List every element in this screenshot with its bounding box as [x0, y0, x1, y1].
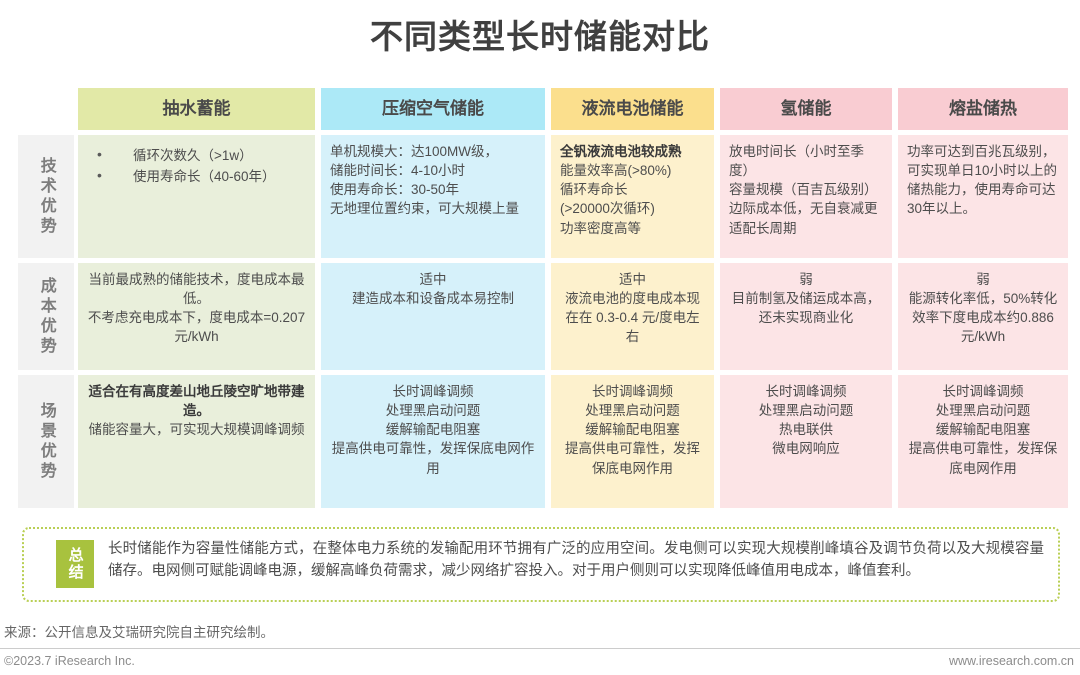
row-scenario-cells: 适合在有高度差山地丘陵空旷地带建造。 储能容量大，可实现大规模调峰调频 长时调峰… — [78, 375, 1068, 508]
cell-cost-flow-battery: 适中 液流电池的度电成本现在在 0.3-0.4 元/度电左右 — [551, 263, 714, 370]
row-label-cost: 成本优势 — [18, 263, 74, 370]
summary-badge-text: 总结 — [66, 547, 83, 581]
column-header-hydrogen[interactable]: 氢储能 — [720, 88, 892, 130]
header-cells: 抽水蓄能 压缩空气储能 液流电池储能 氢储能 熔盐储热 — [78, 88, 1068, 130]
cell-cost-molten-salt: 弱 能源转化率低，50%转化效率下度电成本约0.886元/kWh — [898, 263, 1068, 370]
website-url: www.iresearch.com.cn — [949, 654, 1074, 668]
row-label-scenario-text: 场景优势 — [35, 402, 57, 482]
footer-divider — [0, 648, 1080, 649]
row-technical-cells: 循环次数久（>1w） 使用寿命长（40-60年） 单机规模大：达100MW级， … — [78, 135, 1068, 258]
source-note: 来源：公开信息及艾瑞研究院自主研究绘制。 — [4, 621, 274, 641]
column-header-pumped-hydro[interactable]: 抽水蓄能 — [78, 88, 315, 130]
slide-canvas: 不同类型长时储能对比 抽水蓄能 压缩空气储能 液流电池储能 氢储能 熔盐储热 技… — [0, 0, 1080, 675]
matrix-row-cost: 成本优势 当前最成熟的储能技术，度电成本最低。 不考虑充电成本下，度电成本=0.… — [18, 263, 1068, 370]
cell-cost-compressed-air: 适中 建造成本和设备成本易控制 — [321, 263, 545, 370]
summary-box: 总结 长时储能作为容量性储能方式，在整体电力系统的发输配用环节拥有广泛的应用空间… — [22, 527, 1060, 602]
cell-technical-molten-salt: 功率可达到百兆瓦级别，可实现单日10小时以上的储热能力，使用寿命可达30年以上。 — [898, 135, 1068, 258]
row-label-technical: 技术优势 — [18, 135, 74, 258]
row-label-scenario: 场景优势 — [18, 375, 74, 508]
summary-text: 长时储能作为容量性储能方式，在整体电力系统的发输配用环节拥有广泛的应用空间。发电… — [102, 529, 1058, 583]
list-item: 循环次数久（>1w） — [91, 146, 306, 165]
cell-technical-flow-battery: 全钒液流电池较成熟 能量效率高(>80%) 循环寿命长 (>20000次循环) … — [551, 135, 714, 258]
cell-emphasis-text: 全钒液流电池较成熟 — [560, 142, 705, 161]
bullet-list: 循环次数久（>1w） 使用寿命长（40-60年） — [87, 146, 306, 186]
page-title: 不同类型长时储能对比 — [0, 10, 1080, 58]
cell-scenario-pumped-hydro: 适合在有高度差山地丘陵空旷地带建造。 储能容量大，可实现大规模调峰调频 — [78, 375, 315, 508]
matrix-header-row: 抽水蓄能 压缩空气储能 液流电池储能 氢储能 熔盐储热 — [18, 88, 1068, 130]
cell-emphasis-text: 适合在有高度差山地丘陵空旷地带建造。 — [87, 382, 306, 420]
row-cost-cells: 当前最成熟的储能技术，度电成本最低。 不考虑充电成本下，度电成本=0.207 元… — [78, 263, 1068, 370]
column-header-molten-salt[interactable]: 熔盐储热 — [898, 88, 1068, 130]
cell-technical-pumped-hydro: 循环次数久（>1w） 使用寿命长（40-60年） — [78, 135, 315, 258]
matrix-row-scenario: 场景优势 适合在有高度差山地丘陵空旷地带建造。 储能容量大，可实现大规模调峰调频… — [18, 375, 1068, 508]
cell-scenario-hydrogen: 长时调峰调频 处理黑启动问题 热电联供 微电网响应 — [720, 375, 892, 508]
summary-badge: 总结 — [56, 540, 94, 588]
column-header-compressed-air[interactable]: 压缩空气储能 — [321, 88, 545, 130]
cell-body-text: 储能容量大，可实现大规模调峰调频 — [87, 420, 306, 439]
matrix-row-technical: 技术优势 循环次数久（>1w） 使用寿命长（40-60年） 单机规模大：达100… — [18, 135, 1068, 258]
cell-scenario-flow-battery: 长时调峰调频 处理黑启动问题 缓解输配电阻塞 提高供电可靠性，发挥保底电网作用 — [551, 375, 714, 508]
copyright-text: ©2023.7 iResearch Inc. — [4, 654, 135, 668]
corner-spacer — [18, 88, 74, 130]
cell-cost-hydrogen: 弱 目前制氢及储运成本高，还未实现商业化 — [720, 263, 892, 370]
comparison-matrix: 抽水蓄能 压缩空气储能 液流电池储能 氢储能 熔盐储热 技术优势 循环次数久（>… — [18, 88, 1068, 513]
row-label-technical-text: 技术优势 — [35, 157, 57, 237]
column-header-flow-battery[interactable]: 液流电池储能 — [551, 88, 714, 130]
cell-scenario-compressed-air: 长时调峰调频 处理黑启动问题 缓解输配电阻塞 提高供电可靠性，发挥保底电网作用 — [321, 375, 545, 508]
list-item: 使用寿命长（40-60年） — [91, 167, 306, 186]
cell-body-text: 能量效率高(>80%) 循环寿命长 (>20000次循环) 功率密度高等 — [560, 161, 705, 238]
cell-technical-hydrogen: 放电时间长（小时至季度） 容量规模（百吉瓦级别） 边际成本低，无自衰减更适配长周… — [720, 135, 892, 258]
cell-scenario-molten-salt: 长时调峰调频 处理黑启动问题 缓解输配电阻塞 提高供电可靠性，发挥保底电网作用 — [898, 375, 1068, 508]
cell-technical-compressed-air: 单机规模大：达100MW级， 储能时间长：4-10小时 使用寿命长：30-50年… — [321, 135, 545, 258]
row-label-cost-text: 成本优势 — [35, 277, 57, 357]
cell-cost-pumped-hydro: 当前最成熟的储能技术，度电成本最低。 不考虑充电成本下，度电成本=0.207 元… — [78, 263, 315, 370]
